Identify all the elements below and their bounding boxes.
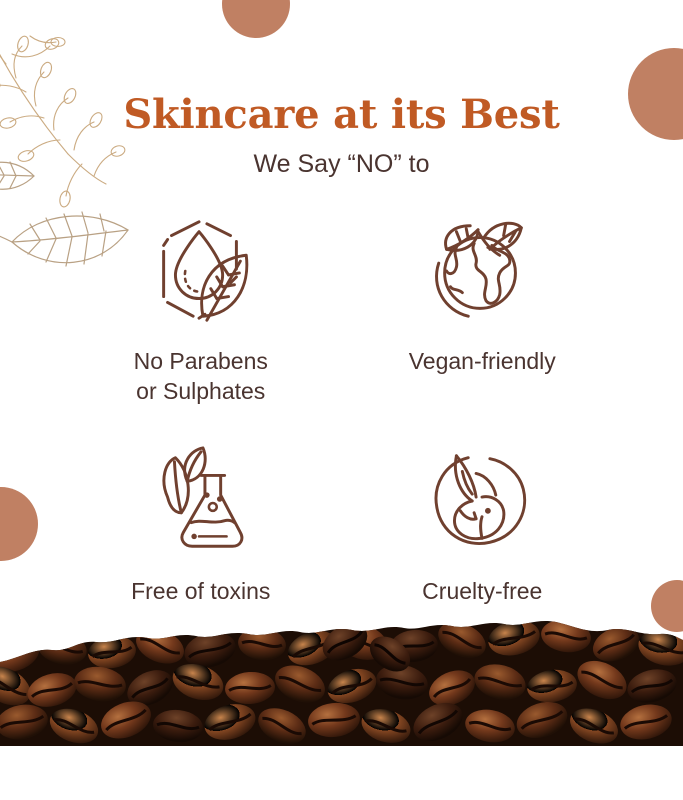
droplet-leaf-hexagon-icon <box>142 212 260 330</box>
feature-label: No Parabens or Sulphates <box>134 346 268 406</box>
promotional-banner: Skincare at its Best We Say “NO” to <box>0 0 683 800</box>
coffee-beans-band <box>0 618 683 746</box>
decorative-circle-left-middle <box>0 487 38 561</box>
feature-label: Vegan-friendly <box>409 346 556 376</box>
header: Skincare at its Best We Say “NO” to <box>0 92 683 180</box>
decorative-circle-top-center <box>222 0 290 38</box>
page-subtitle: We Say “NO” to <box>0 148 683 180</box>
page-title: Skincare at its Best <box>0 92 683 138</box>
feature-item-no-parabens: No Parabens or Sulphates <box>60 212 342 442</box>
feature-item-vegan-friendly: Vegan-friendly <box>342 212 624 442</box>
coffee-beans-illustration <box>0 618 683 746</box>
feature-label: Free of toxins <box>131 576 270 606</box>
feature-grid: No Parabens or Sulphates <box>60 212 623 672</box>
rabbit-circle-icon <box>423 442 541 560</box>
feature-label: Cruelty-free <box>422 576 542 606</box>
flask-leaves-icon <box>142 442 260 560</box>
globe-leaves-icon <box>423 212 541 330</box>
